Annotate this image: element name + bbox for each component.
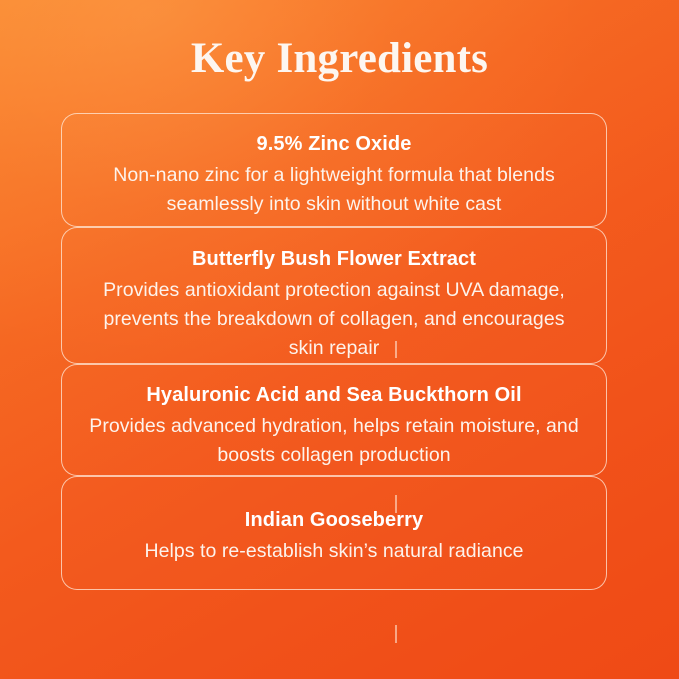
ingredient-card-indian-gooseberry: Indian Gooseberry Helps to re-establish … <box>61 476 607 590</box>
page-title: Key Ingredients <box>0 33 679 85</box>
card-connector-line <box>395 625 397 643</box>
ingredient-heading: Butterfly Bush Flower Extract <box>62 246 606 272</box>
ingredient-card-hyaluronic-acid-sea-buckthorn-oil: Hyaluronic Acid and Sea Buckthorn Oil Pr… <box>61 364 607 476</box>
ingredient-description: Provides antioxidant protection against … <box>62 276 606 363</box>
ingredient-description: Helps to re-establish skin’s natural rad… <box>62 537 606 566</box>
ingredient-heading: 9.5% Zinc Oxide <box>62 131 606 157</box>
ingredient-card-list: 9.5% Zinc Oxide Non-nano zinc for a ligh… <box>61 113 607 590</box>
ingredient-heading: Hyaluronic Acid and Sea Buckthorn Oil <box>62 382 606 408</box>
ingredient-description: Non-nano zinc for a lightweight formula … <box>62 161 606 219</box>
ingredient-card-zinc-oxide: 9.5% Zinc Oxide Non-nano zinc for a ligh… <box>61 113 607 227</box>
ingredient-card-butterfly-bush-flower-extract: Butterfly Bush Flower Extract Provides a… <box>61 227 607 364</box>
ingredient-description: Provides advanced hydration, helps retai… <box>62 412 606 470</box>
ingredient-heading: Indian Gooseberry <box>62 507 606 533</box>
key-ingredients-poster: Key Ingredients 9.5% Zinc Oxide Non-nano… <box>0 0 679 679</box>
